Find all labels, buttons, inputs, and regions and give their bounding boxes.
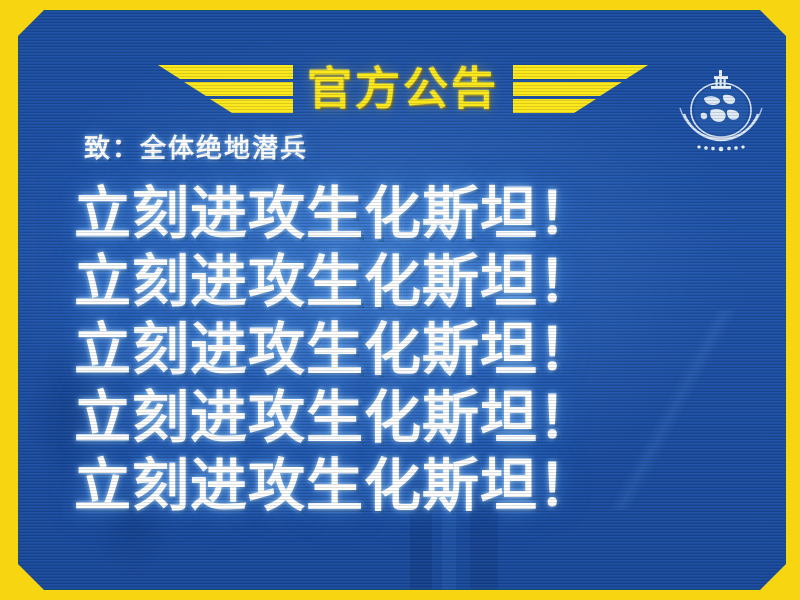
message-line: 立刻进攻生化斯坦！: [74, 248, 774, 316]
salutation-text: 致：全体绝地潜兵: [84, 136, 308, 162]
chevron-wing-right-icon: [513, 59, 648, 117]
message-line: 立刻进攻生化斯坦！: [74, 452, 774, 520]
chevron-wing-left-icon: [158, 59, 293, 117]
title-block: 官方公告: [138, 52, 668, 124]
message-line: 立刻进攻生化斯坦！: [74, 180, 774, 248]
announcement-header: 官方公告: [18, 52, 786, 124]
super-earth-globe-emblem-icon: [678, 64, 764, 156]
message-line: 立刻进攻生化斯坦！: [74, 384, 774, 452]
message-lines: 立刻进攻生化斯坦！ 立刻进攻生化斯坦！ 立刻进攻生化斯坦！ 立刻进攻生化斯坦！ …: [74, 180, 774, 520]
message-line: 立刻进攻生化斯坦！: [74, 316, 774, 384]
announcement-panel: 官方公告: [18, 10, 786, 590]
official-announcement-card: 官方公告: [0, 0, 800, 600]
page-title: 官方公告: [307, 66, 499, 111]
